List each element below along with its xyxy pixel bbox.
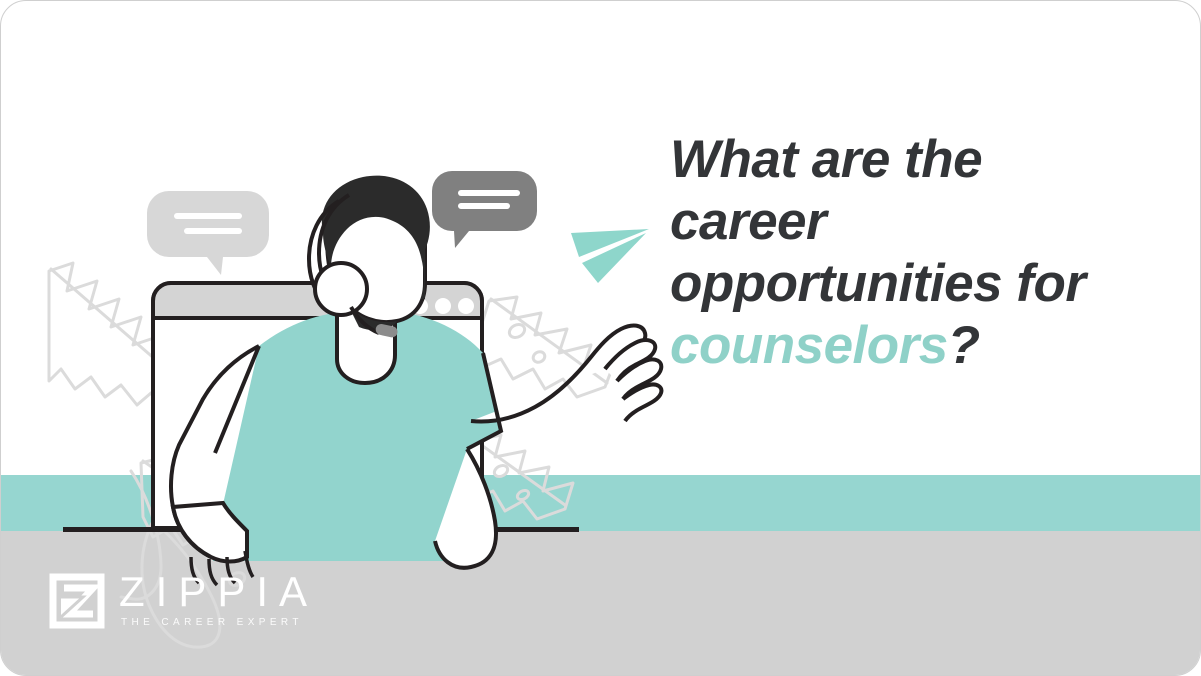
paper-plane-icon bbox=[571, 229, 649, 283]
zippia-z-mark-icon bbox=[49, 573, 105, 629]
page-title: What are the career opportunities for co… bbox=[670, 129, 1140, 377]
headline-line-2: career bbox=[670, 191, 1140, 253]
headline-line-3: opportunities for bbox=[670, 253, 1140, 315]
headline-line-4: counselors? bbox=[670, 315, 1140, 377]
headline-line-1: What are the bbox=[670, 129, 1140, 191]
speech-bubble-dark-icon bbox=[432, 171, 537, 248]
logo-wordmark: ZIPPIA bbox=[119, 571, 318, 613]
speech-bubble-light-icon bbox=[147, 191, 269, 275]
zippia-logo[interactable]: ZIPPIA THE CAREER EXPERT bbox=[49, 571, 318, 630]
headline-accent-word: counselors bbox=[670, 316, 948, 375]
headline-question-mark: ? bbox=[948, 316, 980, 375]
promo-card: What are the career opportunities for co… bbox=[0, 0, 1201, 676]
logo-tagline: THE CAREER EXPERT bbox=[121, 616, 318, 630]
logo-text: ZIPPIA THE CAREER EXPERT bbox=[119, 571, 318, 630]
